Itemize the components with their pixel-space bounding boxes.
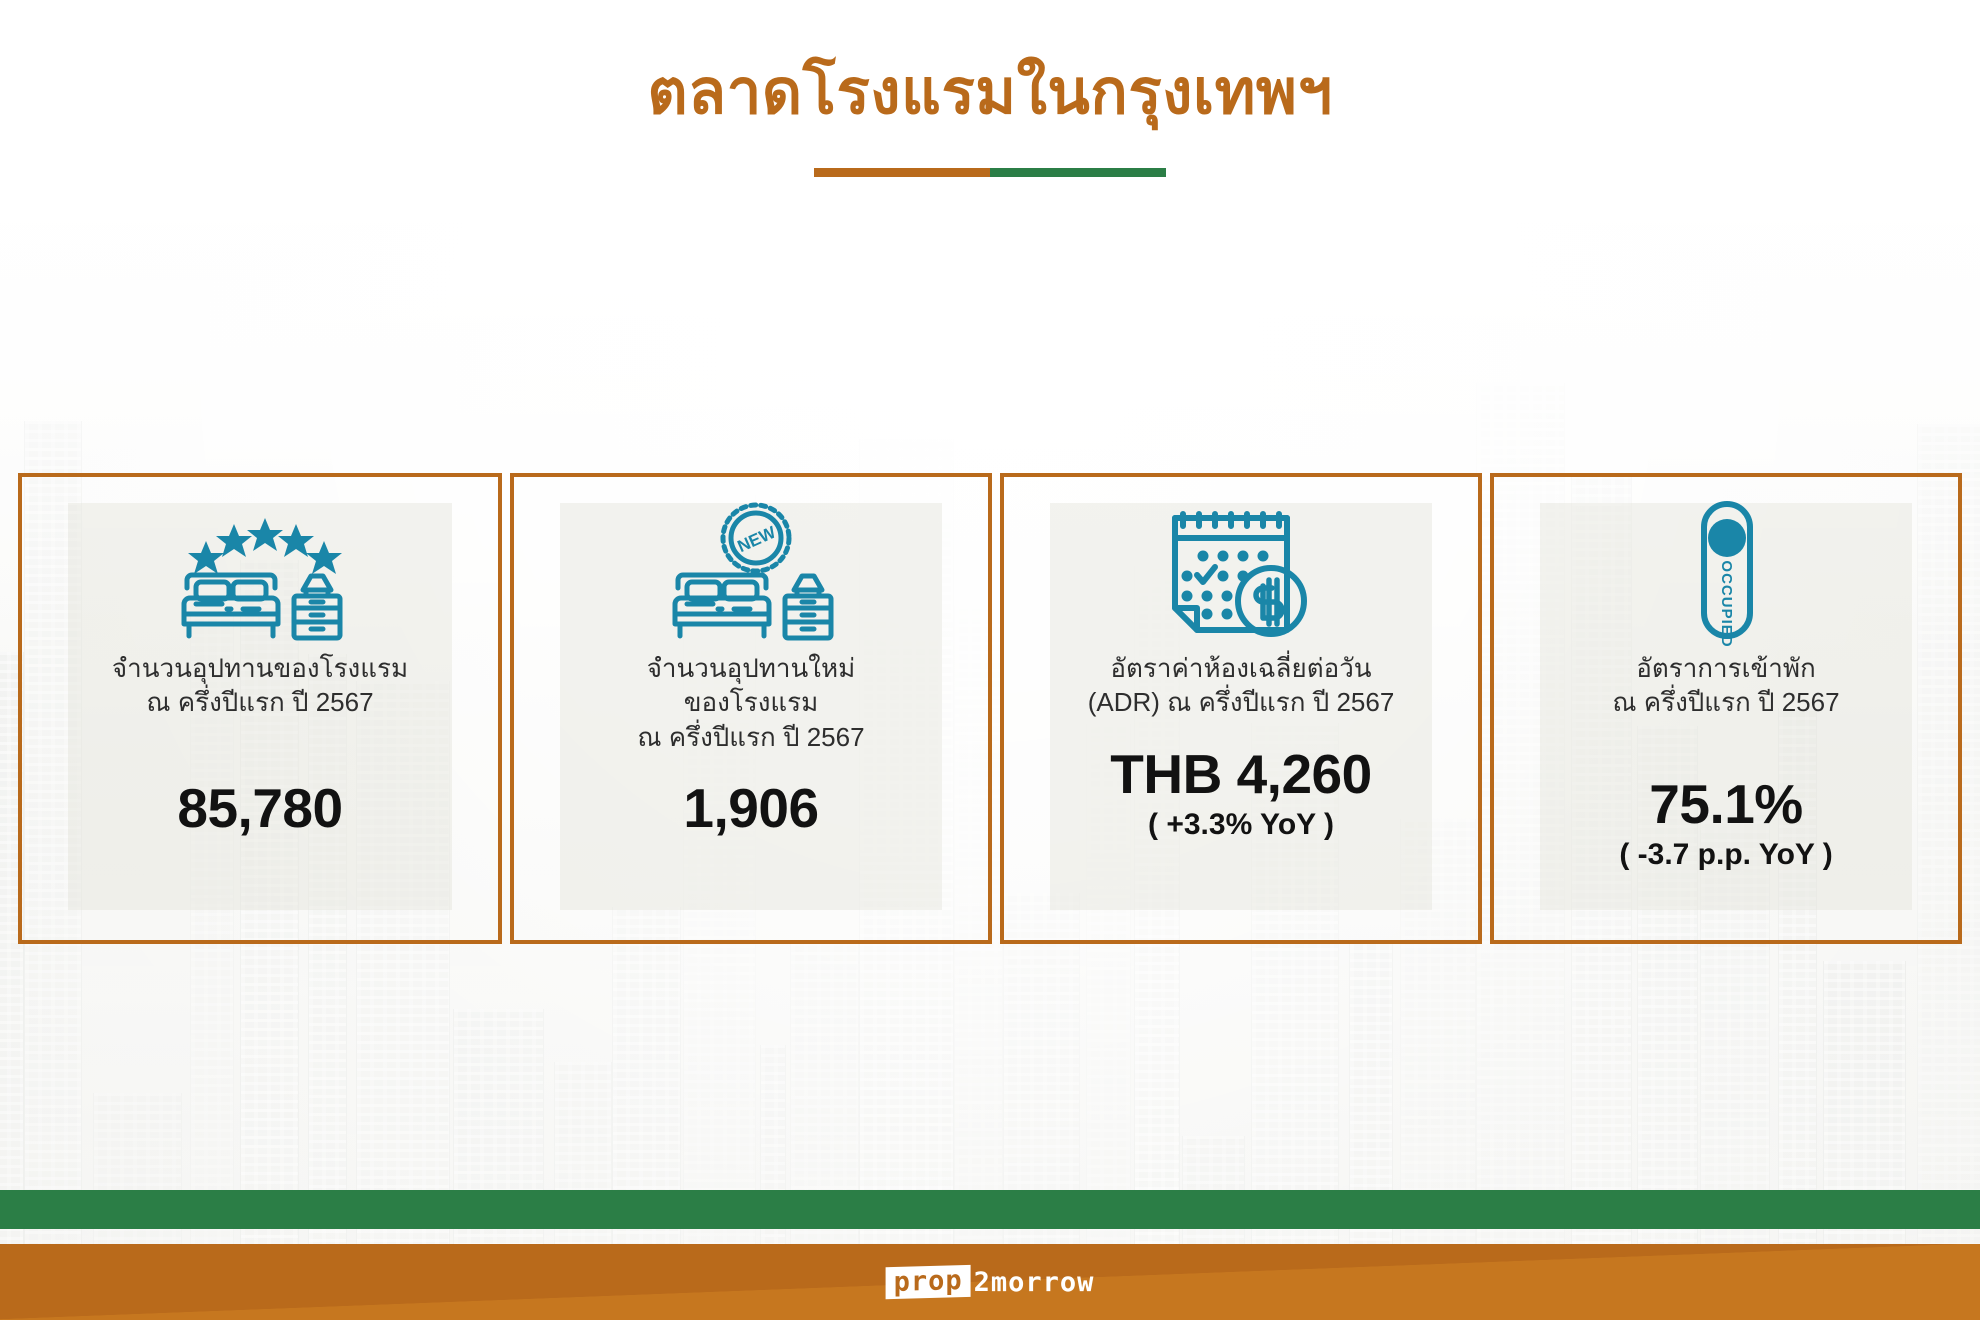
prop2morrow-logo: prop 2morrow [886, 1264, 1095, 1300]
card-label-line-2: (ADR) ณ ครึ่งปีแรก ปี 2567 [1088, 685, 1395, 719]
footer-green-band [0, 1190, 1980, 1229]
page-title: ตลาดโรงแรมในกรุงเทพฯ [0, 0, 1980, 124]
card-value: 75.1% [1649, 772, 1802, 836]
stat-card-hotel-supply: จำนวนอุปทานของโรงแรม ณ ครึ่งปีแรก ปี 256… [18, 473, 502, 944]
svg-text:OCCUPIED: OCCUPIED [1718, 560, 1735, 646]
title-divider [814, 168, 1166, 177]
stat-card-occupancy: OCCUPIED อัตราการเข้าพัก ณ ครึ่งปีแรก ปี… [1490, 473, 1962, 944]
card-label: จำนวนอุปทานของโรงแรม ณ ครึ่งปีแรก ปี 256… [112, 651, 408, 720]
logo-text-2morrow: 2morrow [974, 1269, 1095, 1296]
logo-mark-prop: prop [886, 1265, 971, 1299]
card-value: 85,780 [177, 776, 342, 840]
occupied-door-hanger-icon: OCCUPIED [1666, 495, 1786, 647]
header: ตลาดโรงแรมในกรุงเทพฯ [0, 0, 1980, 177]
card-label-line-1: จำนวนอุปทานของโรงแรม [112, 651, 408, 685]
divider-green-half [990, 168, 1166, 177]
card-label-line-2: ณ ครึ่งปีแรก ปี 2567 [112, 685, 408, 719]
calendar-baht-icon [1161, 495, 1321, 647]
card-label-line-2: ณ ครึ่งปีแรก ปี 2567 [1612, 685, 1839, 719]
new-bed-icon: NEW [656, 495, 846, 647]
svg-text:NEW: NEW [735, 522, 780, 556]
divider-orange-half [814, 168, 990, 177]
stat-card-adr: อัตราค่าห้องเฉลี่ยต่อวัน (ADR) ณ ครึ่งปี… [1000, 473, 1482, 944]
stat-card-row: จำนวนอุปทานของโรงแรม ณ ครึ่งปีแรก ปี 256… [18, 473, 1962, 944]
card-label-line-1: อัตราค่าห้องเฉลี่ยต่อวัน [1088, 651, 1395, 685]
card-label: จำนวนอุปทานใหม่ ของโรงแรม ณ ครึ่งปีแรก ป… [637, 651, 864, 754]
card-label-line-2: ของโรงแรม [637, 685, 864, 719]
card-label-line-1: อัตราการเข้าพัก [1612, 651, 1839, 685]
card-label-line-3: ณ ครึ่งปีแรก ปี 2567 [637, 720, 864, 754]
card-label: อัตราค่าห้องเฉลี่ยต่อวัน (ADR) ณ ครึ่งปี… [1088, 651, 1395, 720]
five-star-bed-icon [165, 495, 355, 647]
stat-card-new-supply: NEW จ [510, 473, 992, 944]
card-value: 1,906 [683, 776, 818, 840]
card-yoy-change: ( -3.7 p.p. YoY ) [1619, 838, 1832, 872]
card-label: อัตราการเข้าพัก ณ ครึ่งปีแรก ปี 2567 [1612, 651, 1839, 720]
card-yoy-change: ( +3.3% YoY ) [1148, 808, 1334, 842]
card-value: THB 4,260 [1110, 742, 1371, 806]
card-label-line-1: จำนวนอุปทานใหม่ [637, 651, 864, 685]
